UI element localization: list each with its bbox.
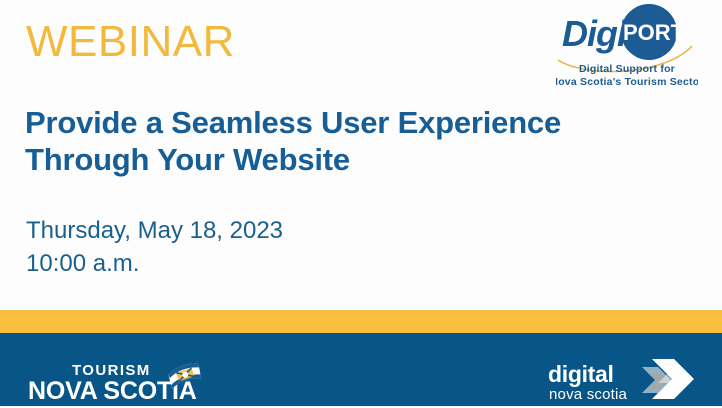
digiport-tagline-line-1: Digital Support for xyxy=(579,63,675,75)
digital-nova-scotia-chevron-icon xyxy=(638,355,712,403)
gold-divider-bar xyxy=(0,310,722,333)
event-time: 10:00 a.m. xyxy=(26,247,283,280)
page-title: Provide a Seamless User Experience Throu… xyxy=(25,104,695,178)
slide-content-area: WEBINAR Provide a Seamless User Experien… xyxy=(0,0,722,310)
digiport-logo: Digi PORT Digital Support for Nova Scoti… xyxy=(556,2,698,90)
event-datetime: Thursday, May 18, 2023 10:00 a.m. xyxy=(26,214,283,280)
digiport-tagline-line-2: Nova Scotia's Tourism Sector xyxy=(556,76,698,88)
digiport-wordmark-port: PORT xyxy=(623,20,685,45)
digital-nova-scotia-line-1: digital xyxy=(548,362,614,387)
digital-nova-scotia-line-2: nova scotia xyxy=(549,386,627,403)
eyebrow-label: WEBINAR xyxy=(26,17,235,67)
digiport-wordmark-digi: Digi xyxy=(562,13,628,54)
webinar-promo-slide: WEBINAR Provide a Seamless User Experien… xyxy=(0,0,722,406)
headline-line-1: Provide a Seamless User Experience xyxy=(25,105,561,140)
headline-line-2: Through Your Website xyxy=(25,141,695,178)
event-date: Thursday, May 18, 2023 xyxy=(26,217,283,244)
nova-scotia-flag-icon xyxy=(166,362,206,392)
